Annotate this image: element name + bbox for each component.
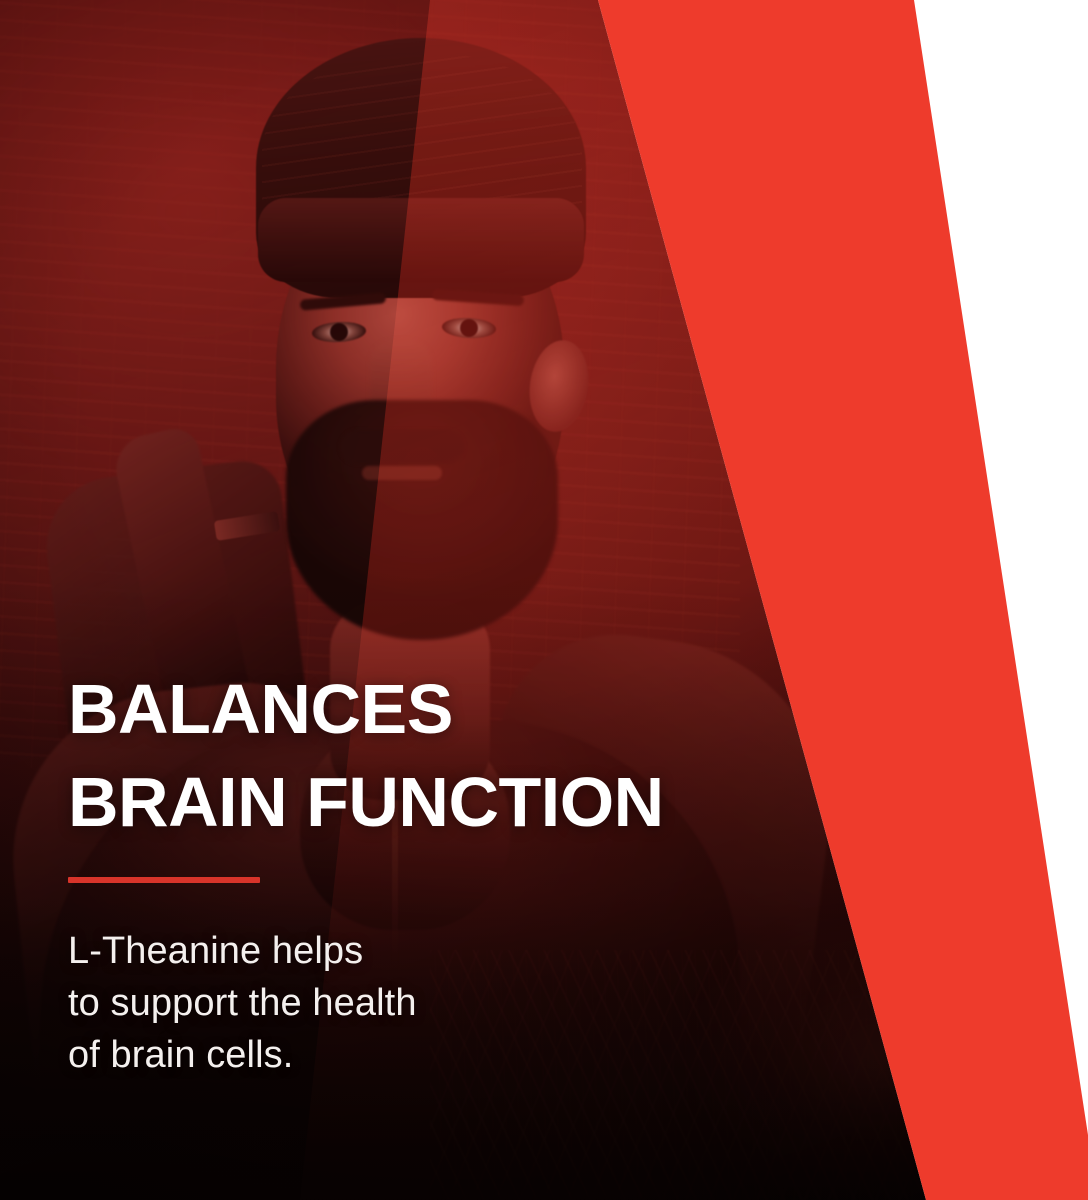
body-text: L-Theanine helps to support the health o… [68,925,768,1081]
pupil-left [330,323,348,341]
headline-line-2: BRAIN FUNCTION [68,756,768,849]
accent-rule [68,877,260,883]
copy-block: BALANCES BRAIN FUNCTION L-Theanine helps… [68,663,768,1081]
mustache [340,430,464,464]
beanie-brim [258,198,584,282]
lower-lip [362,466,442,480]
headline-line-1: BALANCES [68,663,768,756]
page-title: BALANCES BRAIN FUNCTION [68,663,768,849]
body-line-2: to support the health [68,977,768,1029]
body-line-1: L-Theanine helps [68,925,768,977]
balances-brain-function-banner: BALANCES BRAIN FUNCTION L-Theanine helps… [0,0,1088,1200]
pupil-right [460,319,478,337]
body-line-3: of brain cells. [68,1029,768,1081]
